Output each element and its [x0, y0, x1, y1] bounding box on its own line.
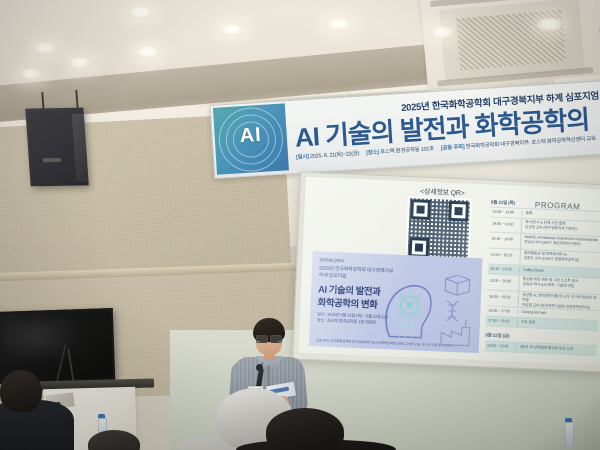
- speaker-logo: [43, 158, 61, 162]
- ceiling-downlight: [135, 46, 159, 58]
- program-schedule: PROGRAM 8월 21일 (목) 13:30 ~ 14:00 등록 14:0…: [484, 197, 600, 364]
- water-bottle: [565, 422, 574, 448]
- ceiling-downlight: [128, 6, 153, 19]
- ceiling-downlight: [429, 26, 454, 39]
- ceiling-downlight: [68, 57, 91, 69]
- glasses-icon: [256, 335, 282, 341]
- audience-dark-hair-center: [266, 408, 344, 450]
- ceiling-downlight: [326, 18, 351, 31]
- poster-title: AI 기술의 발전과 화학공학의 변화: [317, 283, 380, 312]
- science-icons-group: [435, 274, 478, 348]
- projection-screen: <상세정보 QR> 한국화학공학회 2025년 한국화학공학회 대구경북지부 하…: [298, 177, 600, 365]
- qr-code: [405, 196, 472, 263]
- speaker-grille: [27, 111, 76, 184]
- program-day2-label: 8월 22일 (금): [485, 332, 509, 339]
- ceiling-downlight: [220, 24, 244, 36]
- ceiling-downlight: [537, 18, 562, 31]
- poster-title-line2: 화학공학의 변화: [317, 296, 380, 312]
- microphone-capsule-icon: [256, 364, 263, 371]
- ai-brain-head-icon: [381, 278, 436, 342]
- banner-ai-text: AI: [214, 122, 287, 149]
- poster-subtitle: 2025년 한국화학공학회 대구경북지부 하계 심포지엄: [319, 265, 394, 282]
- poster-info: 일시 : 2025년 8월 21일 (목) ~ 8월 22일 (금) 장소 : …: [317, 311, 388, 326]
- poster-logo: 한국화학공학회: [319, 257, 344, 264]
- audience-left-front: [0, 370, 42, 412]
- symposium-poster: 한국화학공학회 2025년 한국화학공학회 대구경북지부 하계 심포지엄 AI …: [309, 251, 483, 353]
- factory-icon: [441, 319, 470, 346]
- projection-screen-frame: <상세정보 QR> 한국화학공학회 2025년 한국화학공학회 대구경북지부 하…: [292, 172, 600, 373]
- program-day1-label: 8월 21일 (목): [491, 200, 515, 207]
- bottle-cap: [98, 414, 105, 418]
- conference-room-photo: AI 2025년 한국화학공학회 대구경북지부 하계 심포지엄 AI 기술의 발…: [0, 0, 600, 450]
- microphone-head-icon: [56, 340, 62, 345]
- bottle-cap: [565, 418, 572, 422]
- ceiling-downlight: [19, 68, 42, 80]
- ceiling-speaker: [25, 108, 89, 187]
- dna-icon: [446, 301, 459, 321]
- cube-icon: [445, 275, 470, 296]
- banner-ai-badge: AI: [213, 103, 289, 174]
- ceiling-downlight: [33, 42, 57, 55]
